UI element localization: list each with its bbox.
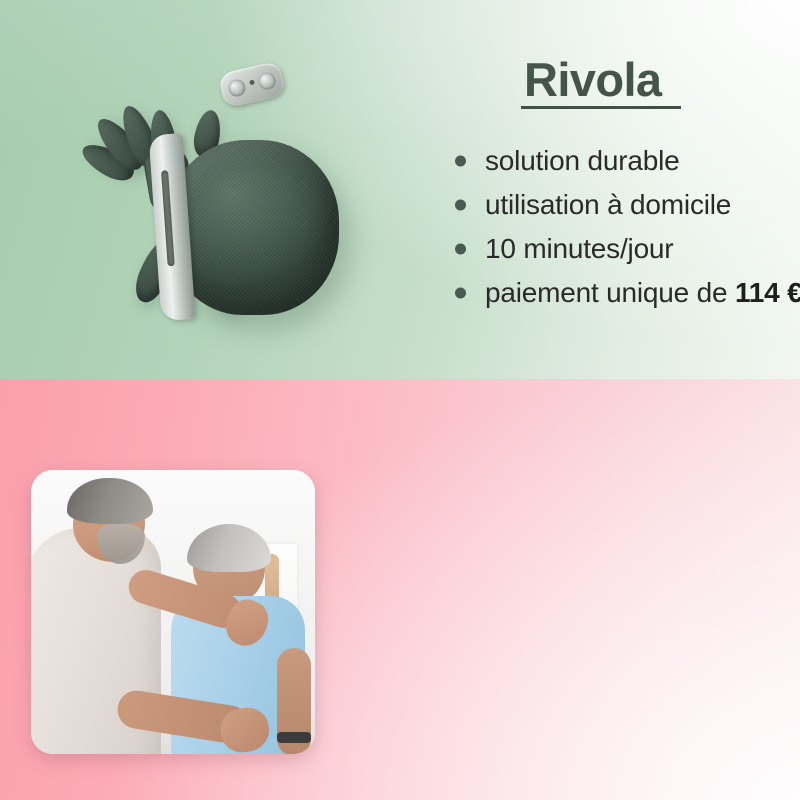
rivola-price-value: 114 € xyxy=(735,277,800,308)
rivola-benefit-list: solution durable utilisation à domicile … xyxy=(455,139,800,315)
list-item: utilisation à domicile xyxy=(455,183,800,227)
rivola-item-0-text: solution durable xyxy=(485,145,680,176)
photo-patient-watch xyxy=(277,732,311,743)
rivola-item-3-text: paiement unique de xyxy=(485,277,735,308)
comparison-infographic: Rivola solution durable utilisation à do… xyxy=(0,0,800,800)
device-control-panel xyxy=(218,60,286,108)
rivola-heading: Rivola xyxy=(524,55,661,104)
list-item: 10 minutes/jour xyxy=(455,227,800,271)
rivola-section: Rivola solution durable utilisation à do… xyxy=(0,0,800,379)
mode-button-icon[interactable] xyxy=(257,71,277,91)
rivola-device-image xyxy=(55,58,345,318)
rivola-item-2-text: 10 minutes/jour xyxy=(485,233,673,264)
rivola-heading-underline xyxy=(521,106,681,109)
rivola-item-1-text: utilisation à domicile xyxy=(485,189,731,220)
power-button-icon[interactable] xyxy=(227,78,247,98)
masseurs-section: masseurs solution temporaire rendez-vous… xyxy=(0,379,800,800)
led-indicator-icon xyxy=(249,79,255,85)
list-item: solution durable xyxy=(455,139,800,183)
masseur-photo xyxy=(31,470,315,754)
list-item: paiement unique de 114 € xyxy=(455,271,800,315)
